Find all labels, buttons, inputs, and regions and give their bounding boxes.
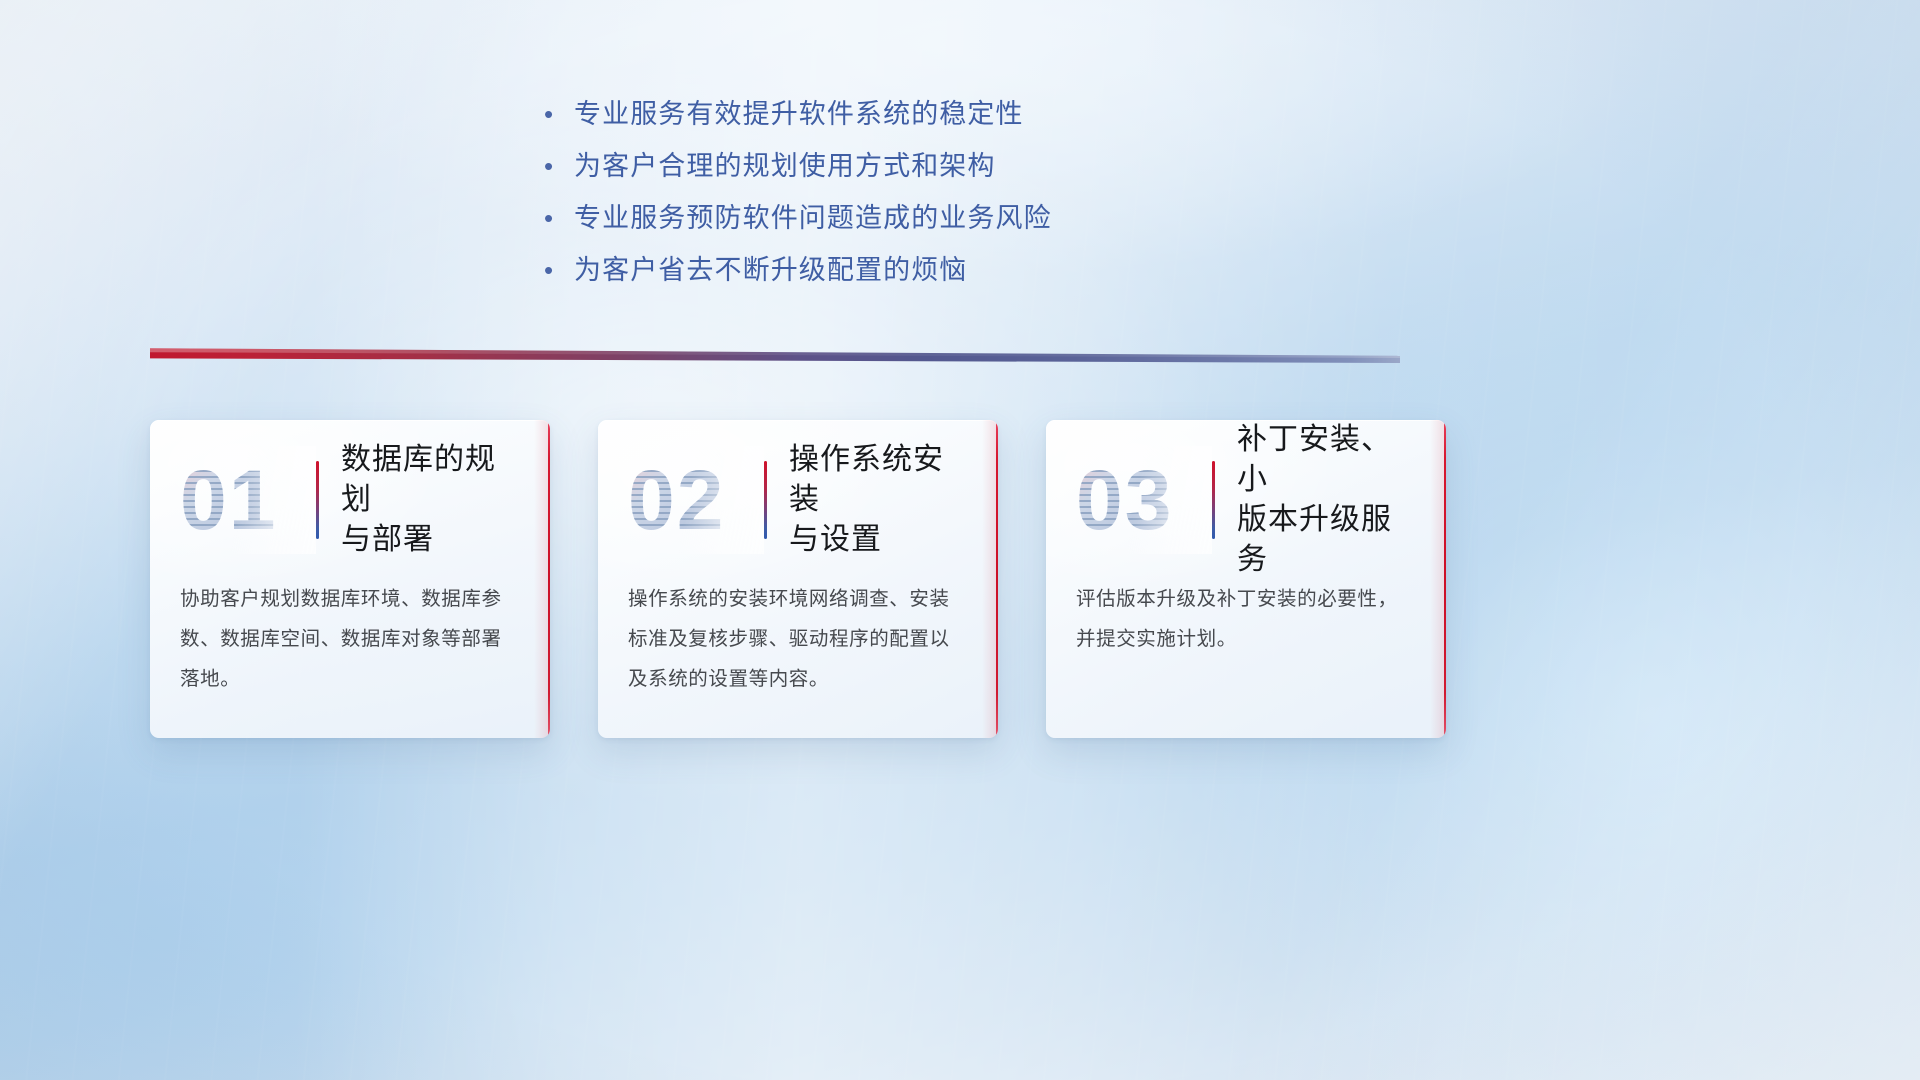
bullet-text: 专业服务预防软件问题造成的业务风险	[574, 196, 1052, 235]
bullet-item: • 为客户合理的规划使用方式和架构	[540, 144, 1440, 196]
service-card[interactable]: 01 数据库的规划 与部署 协助客户规划数据库环境、数据库参数、数据库空间、数据…	[150, 420, 550, 738]
bullet-marker-icon: •	[540, 153, 574, 179]
bullet-marker-icon: •	[540, 257, 574, 283]
card-body-text: 操作系统的安装环境网络调查、安装标准及复核步骤、驱动程序的配置以及系统的设置等内…	[598, 580, 998, 700]
card-body-text: 评估版本升级及补丁安装的必要性，并提交实施计划。	[1046, 580, 1446, 660]
bullet-list: • 专业服务有效提升软件系统的稳定性 • 为客户合理的规划使用方式和架构 • 专…	[540, 92, 1440, 300]
card-divider-rule	[764, 461, 767, 539]
service-card[interactable]: 03 补丁安装、小 版本升级服务 评估版本升级及补丁安装的必要性，并提交实施计划…	[1046, 420, 1446, 738]
bullet-item: • 专业服务预防软件问题造成的业务风险	[540, 196, 1440, 248]
bullet-item: • 为客户省去不断升级配置的烦恼	[540, 248, 1440, 300]
card-header: 03 补丁安装、小 版本升级服务	[1046, 420, 1446, 580]
slide-canvas: • 专业服务有效提升软件系统的稳定性 • 为客户合理的规划使用方式和架构 • 专…	[0, 0, 1920, 1080]
card-divider-rule	[316, 461, 319, 539]
bullet-text: 专业服务有效提升软件系统的稳定性	[574, 92, 1024, 131]
bullet-text: 为客户省去不断升级配置的烦恼	[574, 248, 967, 287]
card-number-watermark: 01	[180, 452, 312, 548]
card-header: 02 操作系统安装 与设置	[598, 420, 998, 580]
bullet-text: 为客户合理的规划使用方式和架构	[574, 144, 996, 183]
card-body-text: 协助客户规划数据库环境、数据库参数、数据库空间、数据库对象等部署落地。	[150, 580, 550, 700]
card-title: 操作系统安装 与设置	[789, 440, 972, 561]
card-title: 数据库的规划 与部署	[341, 440, 524, 561]
bullet-marker-icon: •	[540, 205, 574, 231]
card-divider-rule	[1212, 461, 1215, 539]
section-divider	[150, 345, 1400, 363]
card-header: 01 数据库的规划 与部署	[150, 420, 550, 580]
service-card[interactable]: 02 操作系统安装 与设置 操作系统的安装环境网络调查、安装标准及复核步骤、驱动…	[598, 420, 998, 738]
card-number-watermark: 03	[1076, 452, 1208, 548]
bullet-item: • 专业服务有效提升软件系统的稳定性	[540, 92, 1440, 144]
card-row: 01 数据库的规划 与部署 协助客户规划数据库环境、数据库参数、数据库空间、数据…	[150, 420, 1450, 738]
bullet-marker-icon: •	[540, 101, 574, 127]
card-title: 补丁安装、小 版本升级服务	[1237, 420, 1420, 580]
card-number-watermark: 02	[628, 452, 760, 548]
